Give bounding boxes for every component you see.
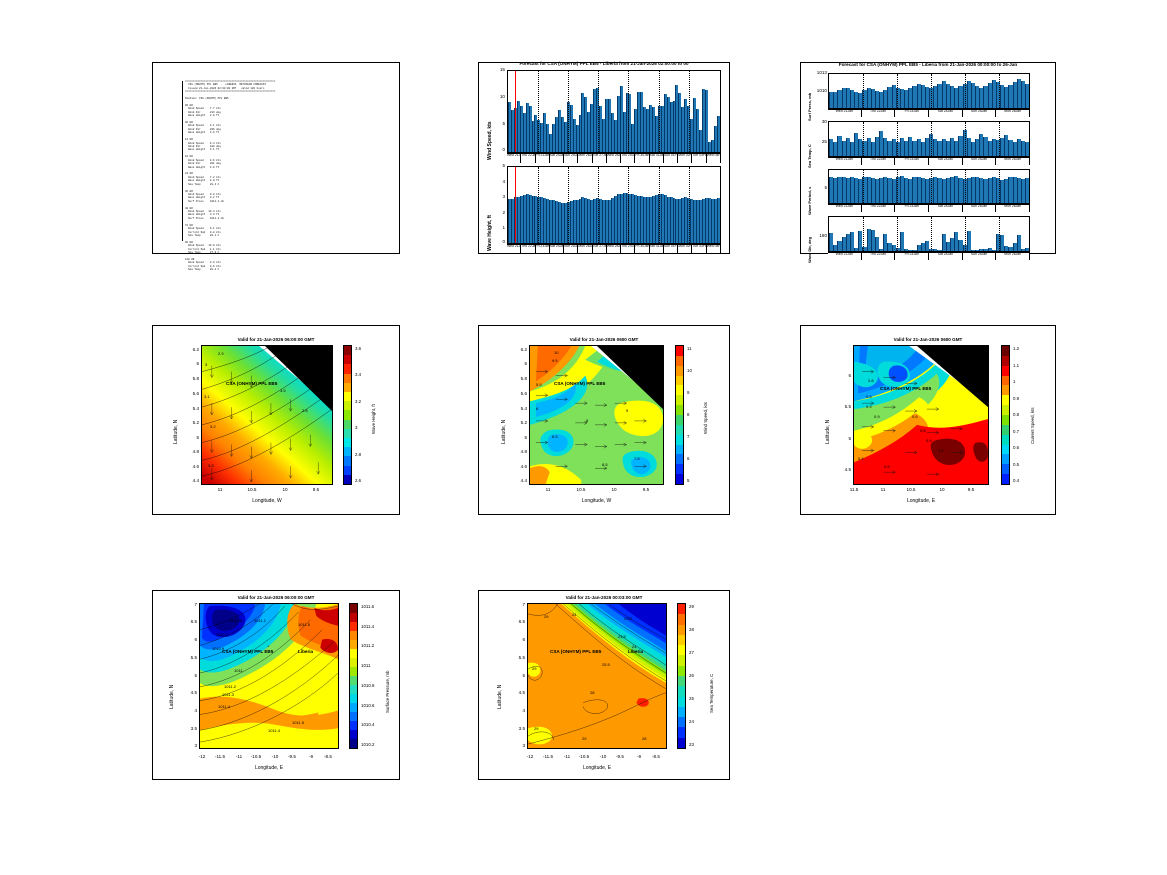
colorbar-segment [678, 635, 685, 645]
report-left-rule [182, 81, 183, 241]
y-tick: 5.2 [511, 420, 527, 425]
surface-pressure-map-axes: + 1010.5 1010.7 1010.9 1011 1011.1 1011.… [199, 603, 339, 749]
date-tick: Thu 29Jan [621, 245, 635, 253]
contour-label: 1011.4 [268, 728, 280, 733]
colorbar-segment [350, 658, 357, 667]
wave-dir-ylabel: Wave Dir, deg [807, 237, 812, 263]
x-tick: 9.5 [637, 487, 655, 492]
colorbar-tick: 0.9 [1013, 396, 1019, 401]
contour-label: 1011.4 [218, 704, 230, 709]
date-tick: Mon 26Jan [996, 110, 1030, 117]
x-tick: 11 [875, 487, 891, 492]
date-tick: Tue 27Jan [593, 245, 607, 253]
x-tick: 10.5 [902, 487, 920, 492]
y-tick: 4.6 [511, 464, 527, 469]
current-speed-map-title: Valid for 21-Jan-2026 0600 GMT [801, 337, 1055, 342]
wave-height-colorbar [343, 345, 352, 485]
wave-date-ticks: Wed 21JanThu 22JanFri 23JanSat 24JanSun … [507, 244, 721, 253]
y-tick: 5.8 [511, 376, 527, 381]
colorbar-segment [344, 429, 351, 438]
contour-label: 1011.2 [224, 684, 236, 689]
date-tick: Mon 26Jan [996, 158, 1030, 165]
date-tick: Thu 22Jan [862, 158, 896, 165]
surface-pressure-map-title: Valid for 21-Jan-2026 06:00:00 GMT [153, 595, 399, 600]
y-tick: 5 [181, 673, 197, 678]
colorbar-segment [344, 438, 351, 447]
country-label-liberia: Liberia [628, 649, 643, 654]
colorbar-segment [676, 454, 683, 464]
contour-label: 29 [544, 614, 548, 619]
colorbar-segment [344, 346, 351, 355]
y-tick: 7 [509, 602, 525, 607]
date-tick: Sun 25Jan [963, 110, 997, 117]
surface-pressure-contours: + [200, 604, 338, 748]
y-tick: 4.5 [181, 690, 197, 695]
date-tick: Sat 31Jan [650, 154, 664, 163]
wave-ytick-5: 5 [489, 163, 505, 168]
colorbar-segment [678, 666, 685, 676]
colorbar-tick: 5 [687, 478, 689, 483]
date-tick: Sat 24Jan [929, 110, 963, 117]
mp2-date-ticks: Wed 21JanThu 22JanFri 23JanSat 24JanSun … [828, 204, 1030, 212]
colorbar-segment [1002, 464, 1009, 474]
date-tick: Thu 22Jan [521, 245, 535, 253]
wave-period-ylabel: Wave Period, s [807, 187, 812, 215]
wind-speed-map-xlabel: Longitude, W [529, 498, 664, 504]
contour-label: 9 [626, 408, 628, 413]
mp1-date-ticks: Wed 21JanThu 22JanFri 23JanSat 24JanSun … [828, 157, 1030, 165]
wave-height-colorbar-label: Wave Height, ft [371, 404, 376, 434]
colorbar-tick: 3.4 [355, 372, 361, 377]
contour-label: 5.5 [536, 382, 542, 387]
wind-speed-map-panel: Valid for 21-Jan-2026 0600 GMT [478, 325, 730, 515]
date-tick: Sun 25Jan [564, 154, 578, 163]
colorbar-segment [1002, 376, 1009, 386]
y-tick: 5.2 [183, 420, 199, 425]
contour-label: 1011 [234, 668, 243, 673]
contour-label: 3.2 [210, 424, 216, 429]
contour-label: 0.8 [920, 428, 926, 433]
date-tick: Mon 26Jan [996, 205, 1030, 212]
current-time-marker-wind [515, 71, 516, 152]
y-tick: 4 [509, 708, 525, 713]
date-tick: Sun 25Jan [963, 253, 997, 260]
report-text: ========================================… [185, 80, 390, 272]
surface-pressure-map-ylabel: Latitude, N [169, 685, 175, 709]
date-tick: Tue 27Jan [593, 154, 607, 163]
colorbar-segment [344, 392, 351, 401]
colorbar-segment [678, 727, 685, 737]
colorbar-tick: 0.8 [1013, 412, 1019, 417]
x-tick: -9 [304, 754, 318, 759]
x-tick: 9.5 [307, 487, 325, 492]
colorbar-tick: 6 [687, 456, 689, 461]
wave-ytick-3: 3 [489, 194, 505, 199]
date-tick: Mon 26Jan [578, 245, 592, 253]
wind-speed-colorbar [675, 345, 684, 485]
colorbar-segment [1002, 415, 1009, 425]
date-tick: Wed 21Jan [828, 205, 862, 212]
colorbar-tick: 28 [689, 627, 694, 632]
y-tick: 5 [183, 435, 199, 440]
date-tick: Thu 29Jan [621, 154, 635, 163]
colorbar-segment [676, 385, 683, 395]
bar [717, 116, 720, 152]
multiparameter-timeseries-panel: Forecast for CSA (ONHYM) PPL EB5 - Liber… [800, 62, 1056, 254]
colorbar-segment [350, 730, 357, 739]
sea-temp-ylabel: Sea Temp, C [807, 144, 812, 168]
y-tick: 7 [181, 602, 197, 607]
y-tick: 6.5 [509, 619, 525, 624]
wave-ytick-1: 1 [489, 225, 505, 230]
y-tick: 4.8 [511, 449, 527, 454]
colorbar-tick: 0.5 [1013, 462, 1019, 467]
colorbar-segment [678, 655, 685, 665]
date-tick: Sun 01Feb [664, 245, 678, 253]
colorbar-segment [350, 676, 357, 685]
sea-temperature-map-xlabel: Longitude, E [527, 765, 667, 771]
multiparam-title: Forecast for CSA (ONHYM) PPL EB5 - Liber… [801, 62, 1055, 67]
colorbar-tick: 24 [689, 719, 694, 724]
colorbar-tick: 1.2 [1013, 346, 1019, 351]
contour-label: 10 [554, 350, 558, 355]
date-tick: Sun 25Jan [564, 245, 578, 253]
wind-wave-timeseries-panel: Forecast for CSA (ONHYM) PPL EB5 - Liber… [478, 62, 730, 254]
date-tick: Fri 23Jan [895, 205, 929, 212]
sea-temperature-colorbar [677, 603, 686, 749]
wave-period-axes [828, 169, 1030, 204]
y-tick: 4.4 [511, 478, 527, 483]
bar [1025, 248, 1029, 251]
colorbar-segment [344, 420, 351, 429]
date-tick: Sun 25Jan [963, 205, 997, 212]
wave-height-map-ylabel: Latitude, N [173, 420, 179, 444]
y-tick: 6.2 [183, 347, 199, 352]
wind-speed-ylabel: Wind Speed, kts [487, 121, 493, 160]
sea-temperature-map-ylabel: Latitude, N [497, 685, 503, 709]
date-tick: Tue 03Feb [692, 245, 706, 253]
date-tick: Mon 02Feb [678, 154, 692, 163]
contour-label: 0.9 [874, 414, 880, 419]
wind-speed-map-axes: 10 9.5 5.5 6 6.5 8 8.5 7.5 9 CSA (ONHYM)… [529, 345, 664, 485]
date-tick: Wed 28Jan [607, 154, 621, 163]
date-tick: Thu 22Jan [521, 154, 535, 163]
date-tick: Wed 21Jan [507, 245, 521, 253]
colorbar-segment [350, 604, 357, 613]
colorbar-tick: 9 [687, 390, 689, 395]
colorbar-tick: 11 [687, 346, 692, 351]
bar [1025, 178, 1029, 203]
current-speed-map-ylabel: Latitude, N [825, 420, 831, 444]
surface-pressure-map-panel: Valid for 21-Jan-2026 06:00:00 GMT [152, 590, 400, 780]
x-tick: -10.5 [575, 754, 593, 759]
colorbar-segment [678, 717, 685, 727]
colorbar-tick: 1010.8 [361, 683, 374, 688]
colorbar-tick: 0.7 [1013, 429, 1019, 434]
colorbar-segment [1002, 346, 1009, 356]
station-label-wave-height: CSA (ONHYM) PPL EB5 [226, 381, 277, 386]
y-tick: 5.5 [835, 404, 851, 409]
contour-label: 25.5 [602, 662, 610, 667]
wave-height-axes [507, 166, 721, 244]
y-tick: 6 [181, 637, 197, 642]
x-tick: -8.5 [647, 754, 665, 759]
colorbar-segment [678, 738, 685, 748]
date-tick: Fri 30Jan [635, 154, 649, 163]
colorbar-segment [1002, 385, 1009, 395]
colorbar-tick: 23 [689, 742, 694, 747]
colorbar-segment [676, 346, 683, 356]
colorbar-tick: 3.6 [355, 346, 361, 351]
x-tick: 10 [277, 487, 293, 492]
station-label-wind-speed: CSA (ONHYM) PPL EB5 [554, 381, 605, 386]
date-tick: Sun 25Jan [963, 158, 997, 165]
contour-label: 29 [582, 736, 586, 741]
colorbar-segment [344, 466, 351, 475]
wind-ytick-10: 10 [489, 94, 505, 99]
colorbar-segment [676, 405, 683, 415]
x-tick: -10.5 [247, 754, 265, 759]
colorbar-segment [678, 686, 685, 696]
surface-pressure-colorbar [349, 603, 358, 749]
colorbar-segment [676, 356, 683, 366]
colorbar-segment [676, 435, 683, 445]
x-tick: 11 [540, 487, 556, 492]
colorbar-segment [678, 645, 685, 655]
colorbar-segment [344, 374, 351, 383]
colorbar-segment [344, 364, 351, 373]
contour-label: 8.5 [602, 462, 608, 467]
x-tick: -8.5 [319, 754, 337, 759]
date-tick: Mon 26Jan [996, 253, 1030, 260]
y-tick: 3.5 [509, 726, 525, 731]
y-tick: 3 [181, 743, 197, 748]
colorbar-segment [676, 425, 683, 435]
colorbar-segment [678, 604, 685, 614]
colorbar-segment [344, 456, 351, 465]
x-tick: -10 [596, 754, 610, 759]
colorbar-segment [1002, 405, 1009, 415]
y-tick: 4.6 [183, 464, 199, 469]
colorbar-segment [350, 649, 357, 658]
colorbar-segment [678, 614, 685, 624]
colorbar-segment [676, 474, 683, 484]
colorbar-tick: 29 [689, 604, 694, 609]
colorbar-segment [676, 376, 683, 386]
contour-label: 3 [205, 362, 207, 367]
colorbar-segment [1002, 454, 1009, 464]
date-tick: Fri 23Jan [536, 154, 550, 163]
colorbar-segment [344, 410, 351, 419]
contour-label: 1011.1 [254, 618, 266, 623]
wave-height-ylabel: Wave Height, ft [487, 215, 493, 251]
contour-label: 8 [586, 418, 588, 423]
sea-temperature-map-title: Valid for 21-Jan-2026 00:03:00 GMT [479, 595, 729, 600]
date-tick: Thu 22Jan [862, 205, 896, 212]
colorbar-tick: 1011.6 [361, 604, 374, 609]
date-tick: Sat 31Jan [650, 245, 664, 253]
bar [1025, 84, 1029, 108]
current-speed-colorbar [1001, 345, 1010, 485]
y-tick: 4.8 [183, 449, 199, 454]
contour-label: 2.8 [302, 408, 308, 413]
contour-label: 0.5 [866, 394, 872, 399]
colorbar-segment [676, 445, 683, 455]
colorbar-segment [676, 395, 683, 405]
y-tick: 6 [509, 637, 525, 642]
contour-label: 1.1 [938, 448, 944, 453]
contour-label: 0.8 [868, 378, 874, 383]
text-report-panel: ========================================… [152, 62, 400, 254]
colorbar-segment [344, 401, 351, 410]
colorbar-tick: 1 [1013, 379, 1015, 384]
surface-pressure-map-xlabel: Longitude, E [199, 765, 339, 771]
x-tick: -10 [268, 754, 282, 759]
date-tick: Fri 30Jan [635, 245, 649, 253]
colorbar-segment [1002, 425, 1009, 435]
wave-height-contours [202, 346, 332, 484]
contour-label: 23.5 [618, 634, 626, 639]
mp0-ytick-lo: 1010 [807, 88, 827, 93]
colorbar-tick: 0.4 [1013, 478, 1019, 483]
colorbar-tick: 1.1 [1013, 363, 1019, 368]
wind-ytick-15: 15 [489, 67, 505, 72]
contour-label: 1011.5 [292, 720, 304, 725]
colorbar-segment [344, 475, 351, 484]
sea-temperature-map-panel: Valid for 21-Jan-2026 00:03:00 GMT [478, 590, 730, 780]
current-speed-map-xlabel: Longitude, E [853, 498, 989, 504]
date-tick: Fri 23Jan [895, 253, 929, 260]
colorbar-tick: 0.6 [1013, 445, 1019, 450]
contour-label: 29 [532, 666, 536, 671]
mp0-ytick-hi: 1013 [807, 70, 827, 75]
contour-label: 3.3 [208, 463, 214, 468]
x-tick: 11.5 [845, 487, 863, 492]
wind-date-ticks: Wed 21JanThu 22JanFri 23JanSat 24JanSun … [507, 153, 721, 163]
colorbar-tick: 1010.4 [361, 722, 374, 727]
wave-height-map-panel: Valid for 21-Jan-2026 06:00:00 GMT [152, 325, 400, 515]
y-tick: 5.5 [509, 655, 525, 660]
date-tick: Mon 26Jan [578, 154, 592, 163]
x-tick: -11 [560, 754, 574, 759]
colorbar-segment [350, 622, 357, 631]
colorbar-segment [350, 712, 357, 721]
contour-label: 3.5 [280, 388, 286, 393]
date-tick: Sat 24Jan [929, 205, 963, 212]
contour-label: 9.5 [552, 358, 558, 363]
date-tick: Thu 22Jan [862, 253, 896, 260]
x-tick: -11.5 [211, 754, 229, 759]
x-tick: -11 [232, 754, 246, 759]
current-speed-map-axes: 0.8 0.5 0.9 0.9 0.6 0.8 0.9 0.4 0.9 1.1 … [853, 345, 989, 485]
colorbar-tick: 2.8 [355, 452, 361, 457]
contour-label: 0.6 [912, 414, 918, 419]
y-tick: 5.4 [511, 406, 527, 411]
y-tick: 4.5 [509, 690, 525, 695]
colorbar-segment [344, 447, 351, 456]
contour-label: 7.5 [634, 456, 640, 461]
x-tick: -12 [523, 754, 537, 759]
colorbar-segment [350, 703, 357, 712]
colorbar-segment [350, 685, 357, 694]
colorbar-segment [1002, 435, 1009, 445]
colorbar-tick: 1010.6 [361, 703, 374, 708]
wave-height-map-xlabel: Longitude, W [201, 498, 333, 504]
wind-ytick-5: 5 [489, 121, 505, 126]
y-tick: 3 [509, 743, 525, 748]
colorbar-segment [350, 694, 357, 703]
contour-label: 0.9 [926, 438, 932, 443]
wind-speed-map-title: Valid for 21-Jan-2026 0600 GMT [479, 337, 729, 342]
station-label-surface-pressure: CSA (ONHYM) PPL EB5 [222, 649, 273, 654]
wave-height-map-title: Valid for 21-Jan-2026 06:00:00 GMT [153, 337, 399, 342]
contour-label: 24 [572, 612, 576, 617]
y-tick: 6 [835, 373, 851, 378]
colorbar-tick: 8 [687, 412, 689, 417]
date-tick: Sat 24Jan [550, 245, 564, 253]
bar [717, 198, 720, 243]
colorbar-segment [350, 613, 357, 622]
sea-temperature-contours [528, 604, 666, 748]
y-tick: 5 [511, 435, 527, 440]
colorbar-tick: 10 [687, 368, 692, 373]
colorbar-tick: 1011.2 [361, 643, 374, 648]
x-tick: -9.5 [283, 754, 301, 759]
date-tick: Wed 21Jan [828, 158, 862, 165]
colorbar-tick: 3.2 [355, 399, 361, 404]
colorbar-segment [344, 383, 351, 392]
surf-press-axes [828, 73, 1030, 109]
date-tick: Fri 23Jan [895, 158, 929, 165]
wave-ytick-4: 4 [489, 179, 505, 184]
contour-label: 1011.5 [298, 622, 310, 627]
colorbar-segment [676, 366, 683, 376]
contour-label: 2.9 [218, 351, 224, 356]
contour-label: 28 [642, 736, 646, 741]
colorbar-segment [1002, 395, 1009, 405]
timeseries-title: Forecast for CSA (ONHYM) PPL EB5 - Liber… [479, 61, 729, 66]
date-tick: Mon 02Feb [678, 245, 692, 253]
date-tick: Wed 28Jan [607, 245, 621, 253]
x-tick: -9.5 [611, 754, 629, 759]
colorbar-tick: 27 [689, 650, 694, 655]
wave-height-map-axes: 2.9 3 3.1 3.2 3.3 3.5 2.8 CSA (ONHYM) PP… [201, 345, 333, 485]
contour-label: 0.9 [884, 464, 890, 469]
date-tick: Sat 24Jan [550, 154, 564, 163]
contour-label: 0.4 [858, 456, 864, 461]
wind-speed-colorbar-label: Wind Speed, kts [703, 402, 708, 434]
x-tick: 10 [934, 487, 950, 492]
y-tick: 3.5 [181, 726, 197, 731]
contour-label: 3.1 [204, 394, 210, 399]
contour-label: 28 [590, 690, 594, 695]
colorbar-tick: 25 [689, 696, 694, 701]
colorbar-tick: 2.6 [355, 478, 361, 483]
y-tick: 6 [183, 361, 199, 366]
wind-speed-axes [507, 70, 721, 153]
country-label-liberia: Liberia [298, 649, 313, 654]
wave-dir-axes [828, 216, 1030, 252]
colorbar-segment [344, 355, 351, 364]
colorbar-segment [1002, 445, 1009, 455]
colorbar-segment [1002, 366, 1009, 376]
x-tick: -12 [195, 754, 209, 759]
contour-label: 29 [534, 726, 538, 731]
contour-label: 1010.5 [230, 618, 242, 623]
current-speed-colorbar-label: Current Speed, kts [1030, 407, 1035, 444]
sea-temp-axes [828, 121, 1030, 157]
date-tick: Wed 21Jan [828, 110, 862, 117]
